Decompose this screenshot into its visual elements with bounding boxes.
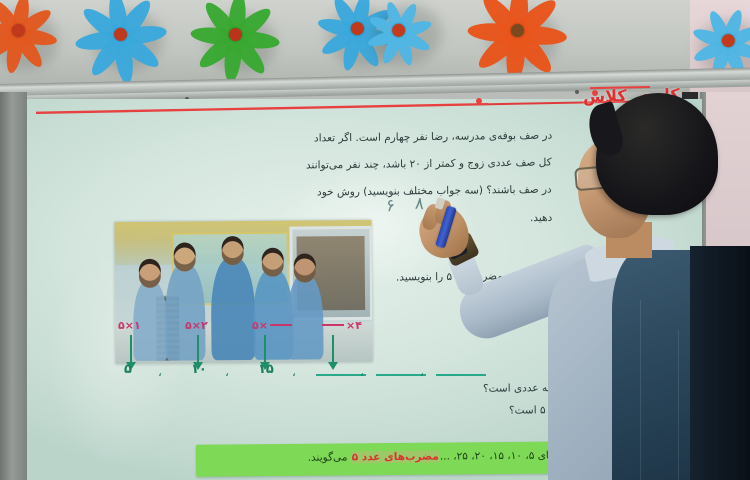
pattern-separator-5: ، [420,365,424,379]
pattern-label-3: ×۵ [252,319,294,332]
whiteboard-left-frame [0,92,27,480]
pattern-separator-4: ، [360,365,364,379]
frame-screw-right [575,90,579,94]
paragraph-line-4: دهید. [530,209,552,228]
photo-student-head [174,247,196,271]
photo-student-head [262,253,284,277]
classroom-photo-scene: کار در کلاس در صف بوفه‌ی مدرسه، رضا نفر … [0,0,750,480]
paper-flower-orange-main [475,0,558,72]
paper-flower-orange-left [0,0,54,66]
pattern-arrow-4 [332,335,334,363]
pattern-answer-blank-4[interactable] [316,374,366,376]
pattern-arrow-3 [264,335,266,363]
pattern-label-4: ۴× [320,319,362,332]
pattern-result-1: ۵ [124,362,132,377]
pattern-label-blank[interactable] [270,324,292,326]
pattern-separator-3: ، [292,365,296,379]
teacher-vest-shadow-side [690,246,750,480]
pattern-label-text: ۴× [346,319,362,332]
pattern-label-1: ۱×۵ [118,319,141,332]
definition-tail: می‌گویند. [308,451,351,463]
photo-student-body [287,275,324,359]
definition-text: به عددهای ۵، ۱۰، ۱۵، ۲۰، ۲۵، ...مضرب‌های… [308,449,583,463]
definition-highlight: مضرب‌های عدد ۵ [351,451,440,464]
pattern-arrow-1 [130,335,132,363]
pattern-label-blank[interactable] [322,324,344,326]
photo-student-body [211,258,256,360]
paragraph-line-2: کل صف عددی زوج و کمتر از ۲۰ باشد، چند نف… [306,153,552,175]
pattern-label-text: ×۵ [252,319,268,332]
paragraph-line-1: در صف بوفه‌ی مدرسه، رضا نفر چهارم است. ا… [314,127,553,149]
pattern-label-2: ۲×۵ [185,319,208,332]
pattern-result-2: ۱۰ [191,362,207,377]
pattern-result-3: ۱۵ [258,362,274,377]
pattern-answer-blank-5[interactable] [376,374,426,376]
header-dot-right [592,90,598,96]
paper-flower-blue-1 [79,0,160,75]
photo-student-head [222,241,244,265]
pattern-answer-blank-6[interactable] [436,374,486,376]
photo-student-head [139,264,161,288]
paragraph-line-3: در صف باشند؟ (سه جواب مختلف بنویسید) روش… [317,181,552,203]
photo-student-body [165,265,206,361]
paper-flower-green [197,0,274,72]
definition-box: به عددهای ۵، ۱۰، ۱۵، ۲۰، ۲۵، ...مضرب‌های… [196,441,595,476]
vest-seam-2 [678,330,679,480]
photo-student-head [294,258,316,282]
flower-center [510,23,524,37]
vest-seam-1 [640,300,641,480]
flower-center [228,27,242,41]
pattern-arrow-2 [197,335,199,363]
handwritten-digit-2: ۸ [414,194,425,215]
definition-numbers: ۵، ۱۰، ۱۵، ۲۰، ۲۵، ... [440,450,535,463]
pattern-separator-1: ، [158,365,162,379]
pattern-separator-2: ، [225,365,229,379]
